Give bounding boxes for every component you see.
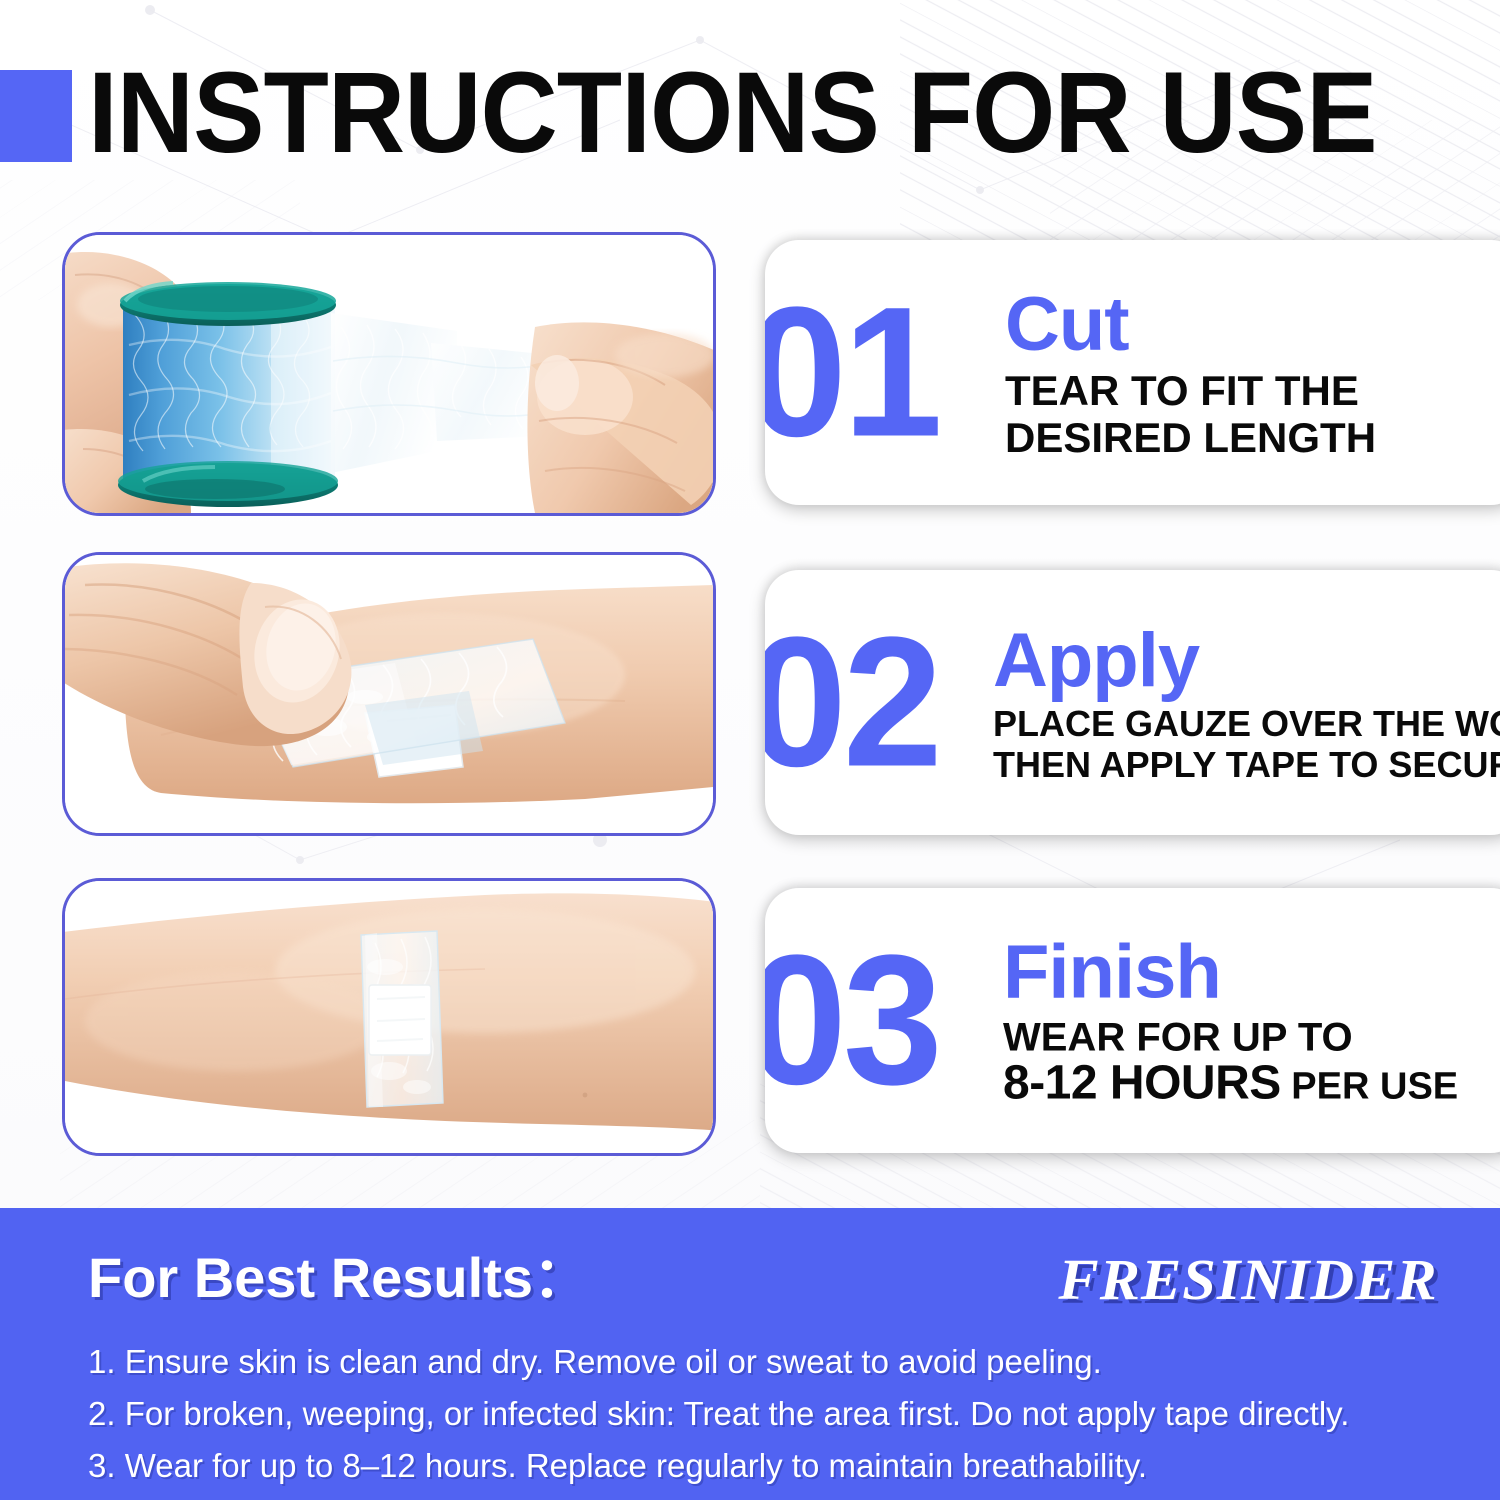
step-card-03: 03 Finish WEAR FOR UP TO 8-12 HOURS PER …: [765, 888, 1500, 1153]
step-title-cut: Cut: [1005, 285, 1500, 365]
photo-panel-cut: [62, 232, 716, 516]
step-content-02: Apply PLACE GAUZE OVER THE WOUND THEN AP…: [993, 621, 1500, 785]
photo-panel-finish: [62, 878, 716, 1156]
step-title-apply: Apply: [993, 621, 1500, 701]
instructions-infographic: INSTRUCTIONS FOR USE: [0, 0, 1500, 1500]
step-title-finish: Finish: [1003, 932, 1500, 1012]
step-desc-line: DESIRED LENGTH: [1005, 414, 1500, 461]
step-description-03: WEAR FOR UP TO 8-12 HOURS PER USE: [1003, 1014, 1500, 1109]
step-desc-line: WEAR FOR UP TO: [1003, 1014, 1500, 1060]
brand-logo: FRESINIDER: [1059, 1250, 1438, 1310]
step-desc-line: PLACE GAUZE OVER THE WOUND: [993, 703, 1500, 744]
step-card-02: 02 Apply PLACE GAUZE OVER THE WOUND THEN…: [765, 570, 1500, 835]
footer-heading: For Best Results：: [88, 1248, 589, 1308]
footer-band: For Best Results： FRESINIDER 1. Ensure s…: [0, 1208, 1500, 1500]
photo-panel-apply: [62, 552, 716, 836]
best-results-list: 1. Ensure skin is clean and dry. Remove …: [88, 1336, 1460, 1492]
wear-duration-suffix: PER USE: [1281, 1065, 1458, 1107]
photo-tape-roll: [65, 235, 713, 513]
step-number-01: 01: [765, 280, 939, 465]
list-item: 1. Ensure skin is clean and dry. Remove …: [88, 1336, 1460, 1388]
page-title: INSTRUCTIONS FOR USE: [88, 48, 1377, 178]
list-item: 3. Wear for up to 8–12 hours. Replace re…: [88, 1440, 1460, 1492]
step-number-02: 02: [765, 610, 939, 795]
list-item: 2. For broken, weeping, or infected skin…: [88, 1388, 1460, 1440]
step-description-01: TEAR TO FIT THE DESIRED LENGTH: [1005, 367, 1500, 461]
step-content-03: Finish WEAR FOR UP TO 8-12 HOURS PER USE: [1003, 932, 1500, 1109]
wear-duration-value: 8-12 HOURS: [1003, 1056, 1281, 1109]
step-card-01: 01 Cut TEAR TO FIT THE DESIRED LENGTH: [765, 240, 1500, 505]
header-accent-square: [0, 70, 72, 162]
step-desc-duration-line: 8-12 HOURS PER USE: [1003, 1060, 1500, 1109]
step-content-01: Cut TEAR TO FIT THE DESIRED LENGTH: [1005, 285, 1500, 461]
step-number-03: 03: [765, 928, 939, 1113]
step-description-02: PLACE GAUZE OVER THE WOUND THEN APPLY TA…: [993, 703, 1500, 785]
photo-finished-dressing: [65, 881, 713, 1153]
page-header: INSTRUCTIONS FOR USE: [0, 62, 1500, 172]
photo-apply-tape: [65, 555, 713, 833]
step-desc-line: TEAR TO FIT THE: [1005, 367, 1500, 414]
step-desc-line: THEN APPLY TAPE TO SECURE IT: [993, 744, 1500, 785]
